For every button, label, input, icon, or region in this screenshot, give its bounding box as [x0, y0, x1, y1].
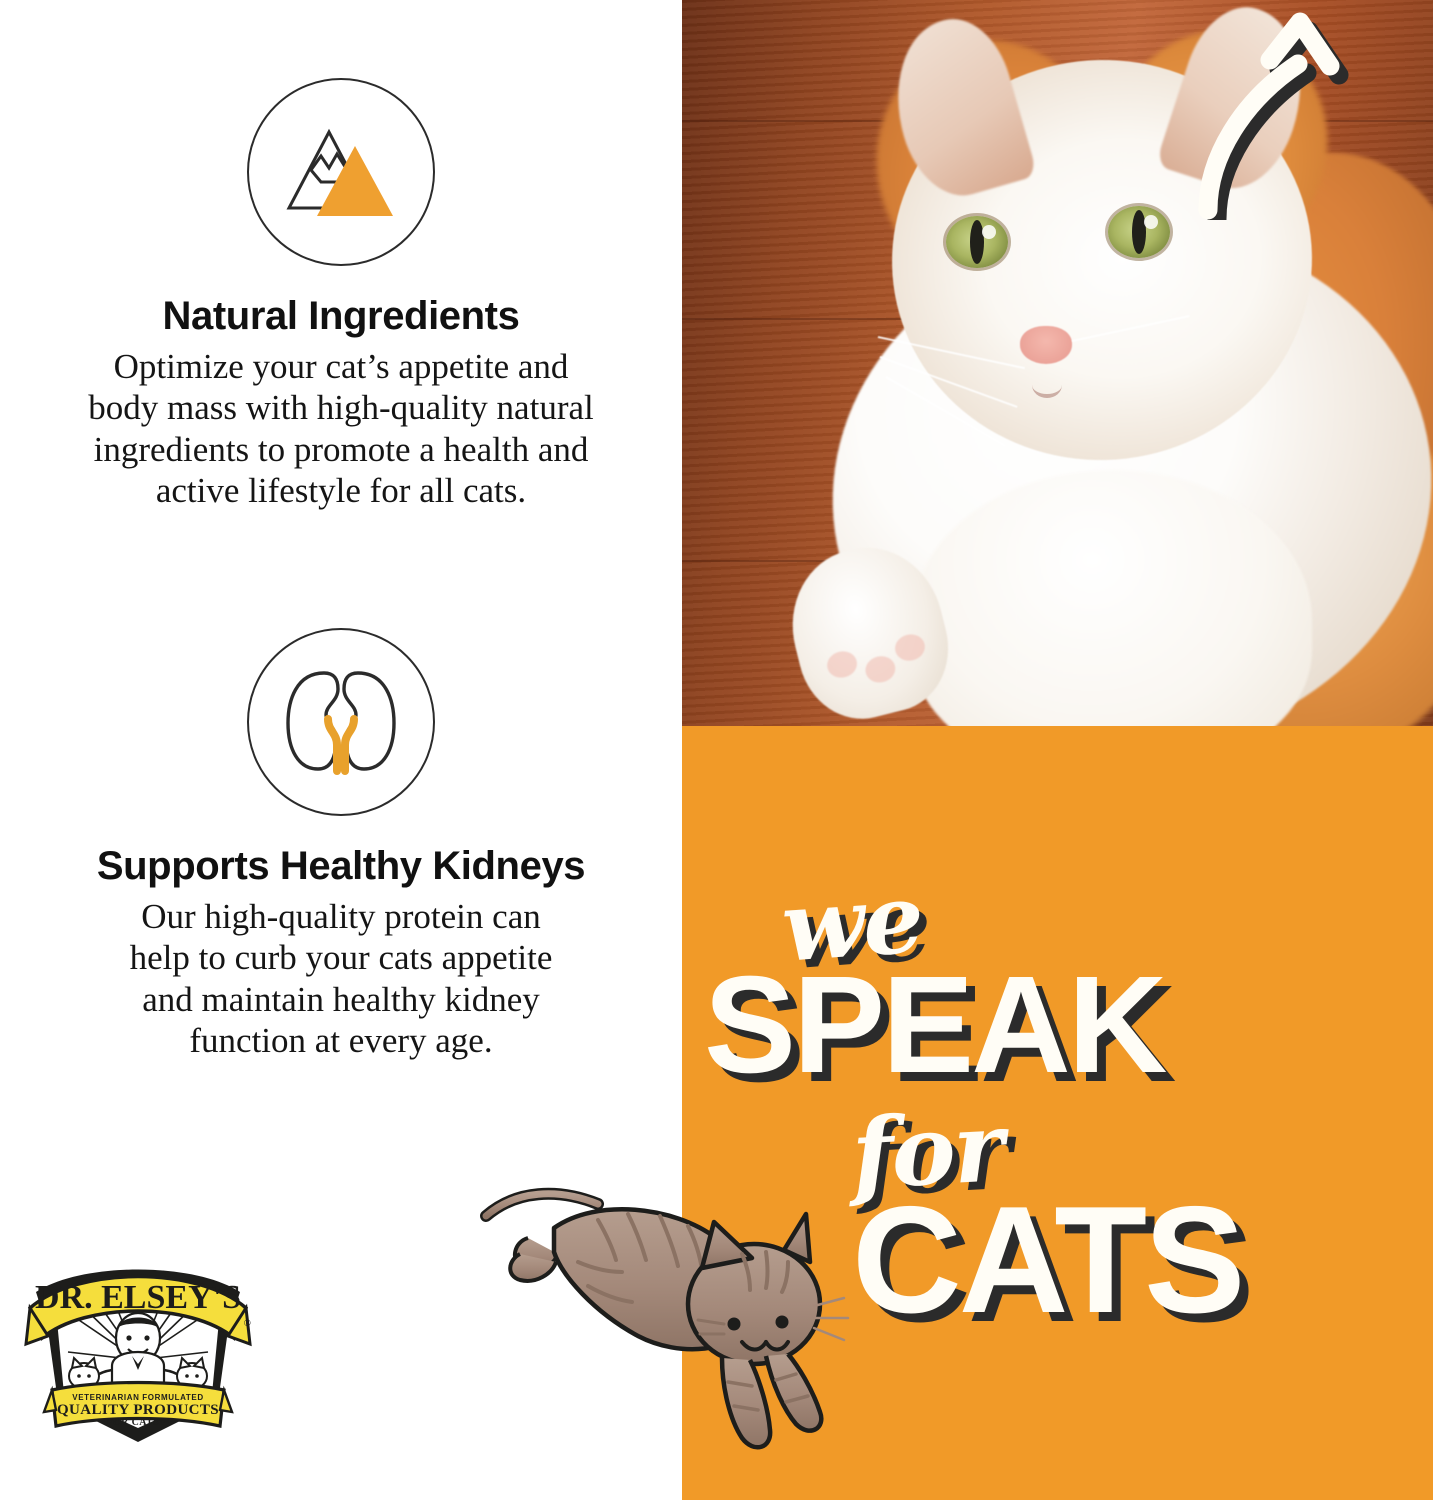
slogan-word-speak: SPEAK [704, 956, 1164, 1094]
cat-eye-right [1108, 206, 1170, 258]
logo-banner-line-1: VETERINARIAN FORMULATED [72, 1393, 203, 1402]
cat-mouth [1032, 372, 1062, 398]
cat-nose [1020, 326, 1072, 364]
body-line: active lifestyle for all cats. [21, 470, 661, 511]
cat-eye-left [946, 216, 1008, 268]
body-line: help to curb your cats appetite [21, 937, 661, 978]
feature-body: Optimize your cat’s appetite and body ma… [21, 346, 661, 511]
brand-logo-dr-elseys: DR. ELSEY'S ® [22, 1252, 254, 1448]
kidneys-icon [247, 628, 435, 816]
mountain-icon [247, 78, 435, 266]
body-line: Optimize your cat’s appetite and [21, 346, 661, 387]
logo-registered-mark: ® [244, 1318, 251, 1328]
slogan-word-cats: CATS [852, 1184, 1243, 1336]
logo-banner-line-2: QUALITY PRODUCTS [57, 1402, 219, 1418]
feature-body: Our high-quality protein can help to cur… [21, 896, 661, 1061]
feature-block-natural-ingredients: Natural Ingredients Optimize your cat’s … [0, 78, 682, 511]
leaping-cat-illustration [466, 1176, 866, 1466]
curved-up-arrow-icon [1178, 0, 1408, 220]
feature-title: Natural Ingredients [0, 294, 682, 338]
product-feature-graphic: Natural Ingredients Optimize your cat’s … [0, 0, 1433, 1500]
logo-banner-line-3: FOR CATS™ [106, 1417, 169, 1428]
body-line: body mass with high-quality natural [21, 387, 661, 428]
feature-title: Supports Healthy Kidneys [0, 844, 682, 888]
body-line: function at every age. [21, 1020, 661, 1061]
body-line: Our high-quality protein can [21, 896, 661, 937]
logo-brand-text: DR. ELSEY'S [35, 1279, 241, 1316]
body-line: ingredients to promote a health and [21, 429, 661, 470]
body-line: and maintain healthy kidney [21, 979, 661, 1020]
feature-block-healthy-kidneys: Supports Healthy Kidneys Our high-qualit… [0, 628, 682, 1061]
